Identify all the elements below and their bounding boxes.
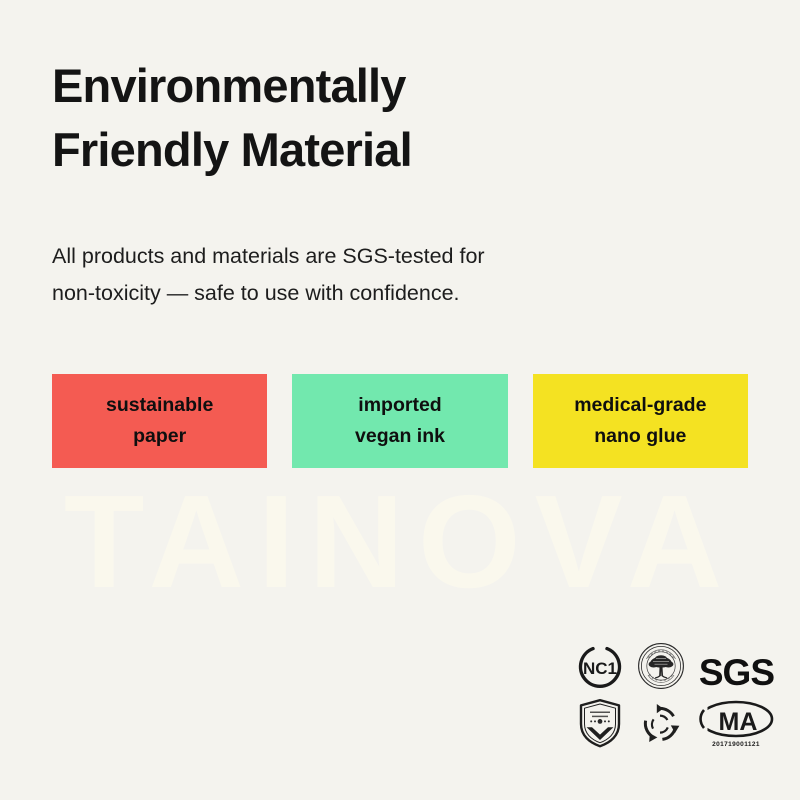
material-tag-label-line-1: imported [358, 390, 441, 421]
material-tag-label-line-1: sustainable [106, 390, 213, 421]
forest-tree-seal-icon [637, 642, 685, 690]
sgs-label: SGS [699, 656, 774, 690]
cma-code: 201719001121 [712, 741, 760, 748]
nc1-icon: NC1 [577, 644, 623, 690]
svg-text:MA: MA [719, 708, 758, 736]
recycling-icon [636, 700, 684, 748]
page-title-line-2: Friendly Material [52, 118, 572, 182]
certification-row-1: NC1 [577, 642, 774, 690]
sgs-icon: SGS [699, 656, 774, 690]
material-tag-sustainable-paper: sustainable paper [52, 374, 267, 468]
certification-badges: NC1 [577, 642, 774, 748]
material-tag-row: sustainable paper imported vegan ink med… [52, 312, 748, 468]
page-title-line-1: Environmentally [52, 54, 572, 118]
page-content: Environmentally Friendly Material All pr… [0, 0, 800, 468]
page-subtitle: All products and materials are SGS-teste… [52, 182, 612, 312]
material-tag-label-line-2: nano glue [594, 421, 686, 452]
material-tag-label-line-2: vegan ink [355, 421, 445, 452]
cma-icon: MA 201719001121 [698, 700, 774, 748]
brand-watermark: TAINOVA [0, 476, 800, 608]
material-tag-label-line-2: paper [133, 421, 186, 452]
page-subtitle-line-1: All products and materials are SGS-teste… [52, 238, 612, 275]
material-tag-vegan-ink: imported vegan ink [292, 374, 507, 468]
page-subtitle-line-2: non-toxicity — safe to use with confiden… [52, 275, 612, 312]
material-tag-nano-glue: medical-grade nano glue [533, 374, 748, 468]
certification-row-2: MA 201719001121 [577, 698, 774, 748]
page-title: Environmentally Friendly Material [52, 0, 572, 182]
shield-icon [578, 698, 622, 748]
svg-text:NC1: NC1 [583, 659, 617, 678]
material-tag-label-line-1: medical-grade [574, 390, 706, 421]
